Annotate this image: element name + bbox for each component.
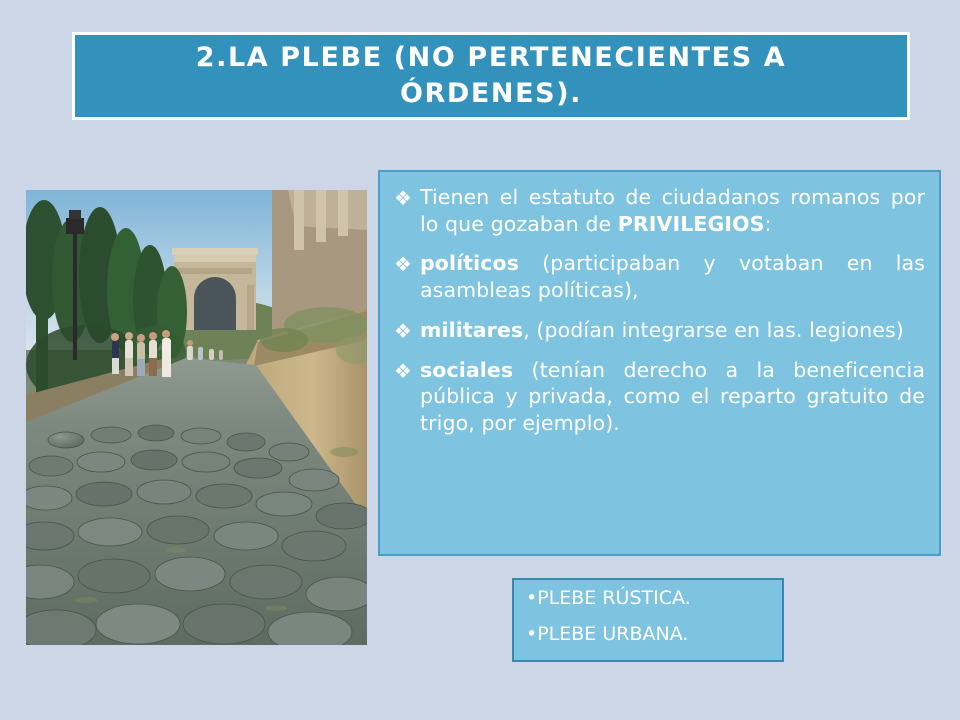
roman-road-illustration [26, 190, 367, 645]
privilege-item-text-2: militares, (podían integrarse en las. le… [420, 317, 925, 344]
list-item: ❖ políticos (participaban y votaban en l… [394, 250, 925, 303]
plebe-types-box: •PLEBE RÚSTICA. •PLEBE URBANA. [512, 578, 784, 662]
privilege-item-text-1: políticos (participaban y votaban en las… [420, 250, 925, 303]
plebe-type-urbana: •PLEBE URBANA. [526, 625, 772, 644]
roman-road-photo [26, 190, 367, 645]
slide-title-banner: 2.LA PLEBE (NO PERTENECIENTES A ÓRDENES)… [72, 32, 910, 120]
page-title: 2.LA PLEBE (NO PERTENECIENTES A ÓRDENES)… [182, 40, 801, 111]
privilege-item-text-0: Tienen el estatuto de ciudadanos romanos… [420, 184, 925, 237]
diamond-bullet-icon: ❖ [394, 357, 420, 384]
list-item: ❖ sociales (tenían derecho a la benefice… [394, 357, 925, 437]
diamond-bullet-icon: ❖ [394, 184, 420, 211]
diamond-bullet-icon: ❖ [394, 250, 420, 277]
diamond-bullet-icon: ❖ [394, 317, 420, 344]
privileges-text-box: ❖ Tienen el estatuto de ciudadanos roman… [378, 170, 941, 556]
privilege-item-text-3: sociales (tenían derecho a la beneficenc… [420, 357, 925, 437]
list-item: ❖ Tienen el estatuto de ciudadanos roman… [394, 184, 925, 237]
list-item: ❖ militares, (podían integrarse en las. … [394, 317, 925, 344]
plebe-type-rustica: •PLEBE RÚSTICA. [526, 589, 772, 608]
